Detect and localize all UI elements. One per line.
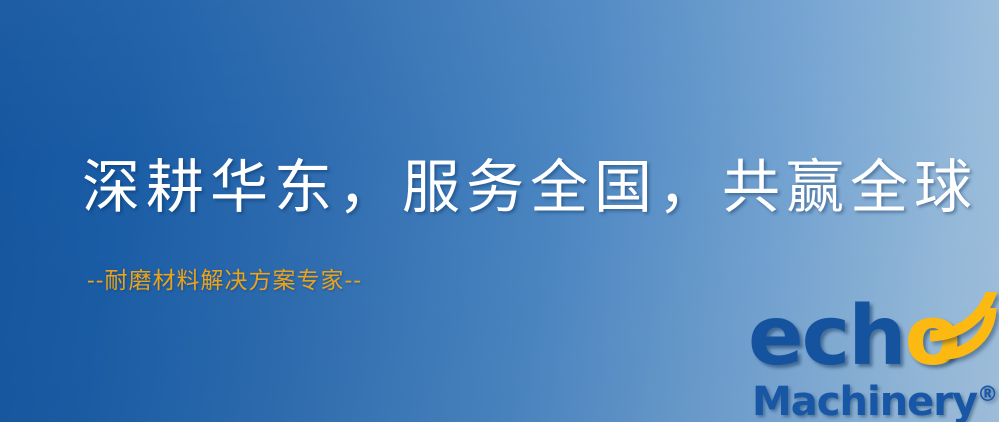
echo-machinery-logo[interactable]: echo Machinery®	[744, 296, 999, 422]
registered-trademark-icon: ®	[977, 382, 998, 406]
logo-tagline: Machinery®	[752, 374, 998, 422]
logo-wordmark: echo	[748, 296, 959, 378]
banner-headline: 深耕华东，服务全国，共赢全球	[82, 150, 978, 224]
logo-wordmark-prefix: ech	[748, 289, 905, 384]
banner-subtitle: --耐磨材料解决方案专家--	[87, 266, 362, 296]
logo-tagline-text: Machinery	[752, 379, 977, 422]
signal-arcs-icon	[929, 292, 999, 366]
hero-banner: 深耕华东，服务全国，共赢全球 --耐磨材料解决方案专家-- echo Machi…	[0, 0, 999, 422]
